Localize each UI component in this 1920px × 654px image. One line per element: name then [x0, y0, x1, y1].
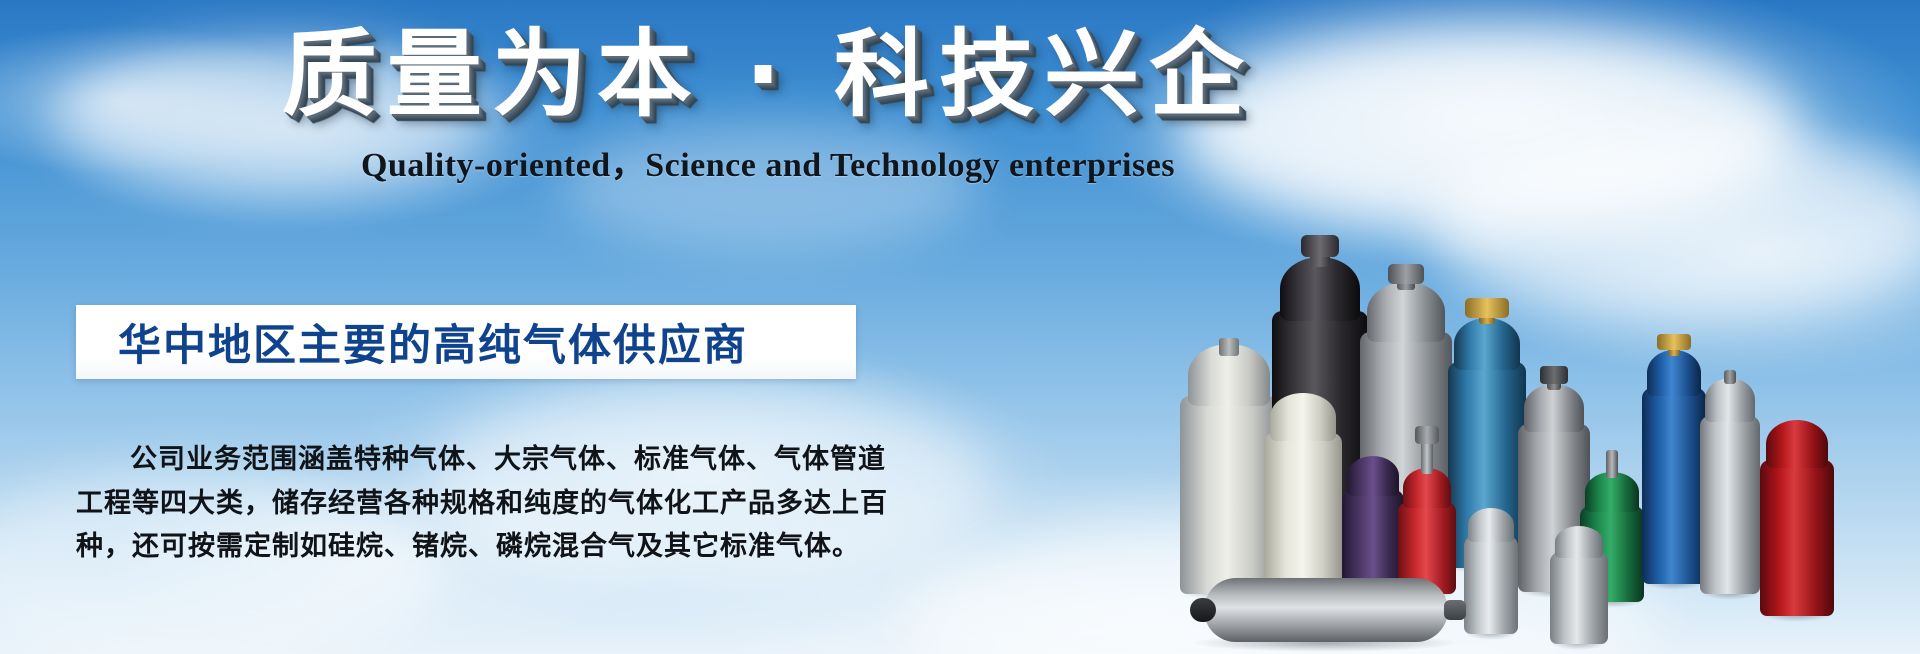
- promotional-banner: 质量为本 · 科技兴企 Quality-oriented，Science and…: [0, 0, 1920, 654]
- description-line-2: 工程等四大类，储存经营各种规格和纯度的气体化工产品多达上百: [76, 482, 866, 526]
- gas-cylinder-group-photo: [1220, 234, 1920, 654]
- banner-headline: 质量为本 · 科技兴企: [0, 24, 1536, 127]
- tagline-box: 华中地区主要的高纯气体供应商: [76, 305, 856, 379]
- dark-red-cylinder: [1760, 416, 1834, 616]
- red-small-cylinder: [1398, 414, 1456, 594]
- banner-description: 公司业务范围涵盖特种气体、大宗气体、标准气体、气体管道 工程等四大类，储存经营各…: [76, 438, 866, 569]
- description-line-1: 公司业务范围涵盖特种气体、大宗气体、标准气体、气体管道: [76, 438, 866, 482]
- silver-aluminium-cylinder: [1700, 366, 1760, 594]
- small-silver-cylinder: [1464, 506, 1518, 634]
- tagline-text: 华中地区主要的高纯气体供应商: [76, 311, 748, 373]
- blue-slim-cylinder: [1642, 334, 1706, 584]
- front-silver-cylinder: [1550, 524, 1608, 644]
- cream-cylinder: [1264, 389, 1342, 599]
- grey-lying-cylinder: [1190, 572, 1460, 648]
- description-line-3: 种，还可按需定制如硅烷、锗烷、磷烷混合气及其它标准气体。: [76, 525, 866, 569]
- banner-subheadline: Quality-oriented，Science and Technology …: [0, 137, 1536, 186]
